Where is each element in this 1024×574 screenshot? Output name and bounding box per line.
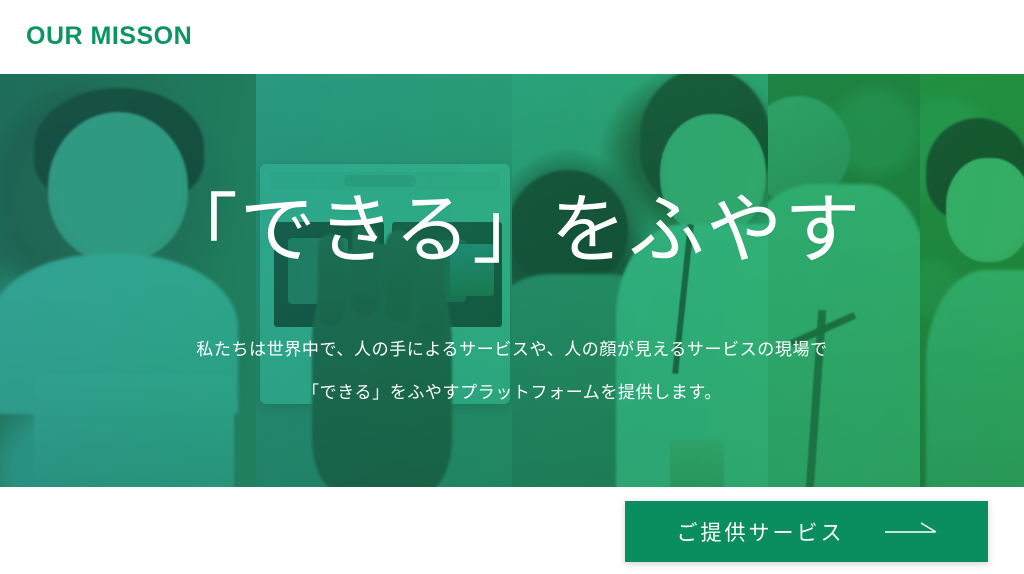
services-cta-button[interactable]: ご提供サービス [625, 501, 988, 562]
mission-page: OUR MISSON [0, 0, 1024, 574]
hero-title: 「できる」をふやす [162, 190, 862, 272]
hero-copy: 「できる」をふやす 私たちは世界中で、人の手によるサービスや、人の顔が見えるサー… [0, 74, 1024, 487]
hero-subtitle-line-2: 「できる」をふやすプラットフォームを提供します。 [196, 371, 827, 414]
page-title: OUR MISSON [26, 24, 192, 49]
arrow-right-icon [885, 522, 937, 541]
hero-subtitle: 私たちは世界中で、人の手によるサービスや、人の顔が見えるサービスの現場で 「でき… [196, 328, 827, 415]
hero-banner: 「できる」をふやす 私たちは世界中で、人の手によるサービスや、人の顔が見えるサー… [0, 74, 1024, 487]
services-cta-label: ご提供サービス [677, 517, 845, 547]
hero-subtitle-line-1: 私たちは世界中で、人の手によるサービスや、人の顔が見えるサービスの現場で [196, 328, 827, 371]
